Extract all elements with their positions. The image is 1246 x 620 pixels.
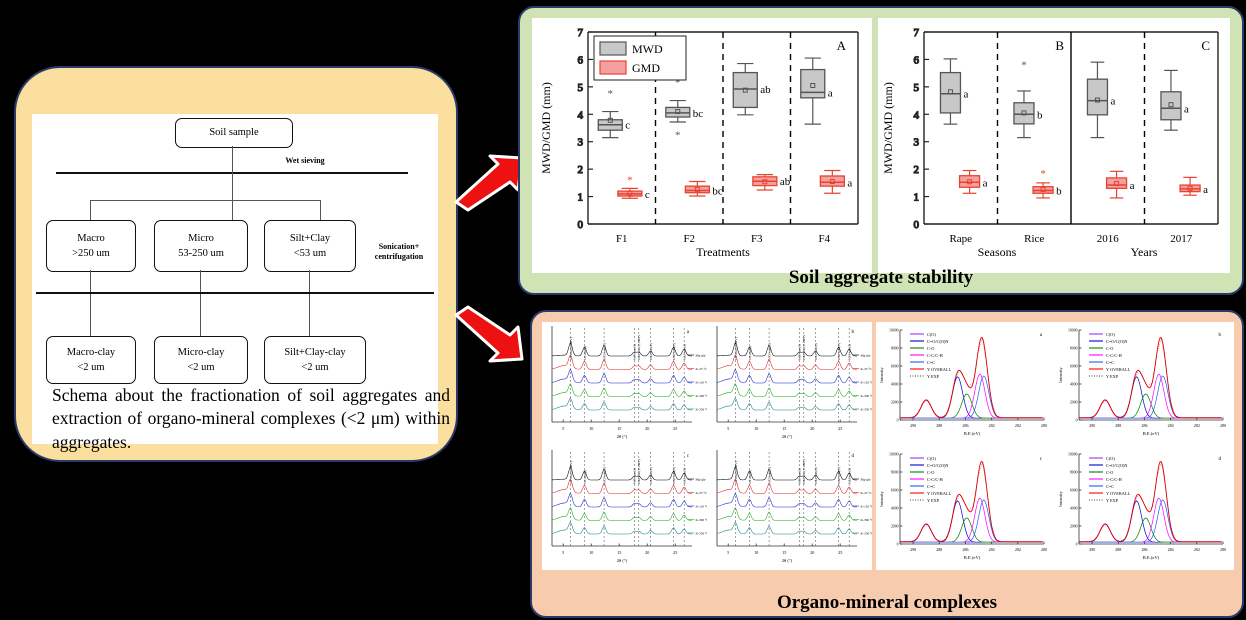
svg-text:C(O): C(O) [1106,456,1115,461]
svg-text:0: 0 [1076,543,1078,547]
clay-name: Macro-clay [67,345,115,360]
svg-text:6000: 6000 [891,365,899,369]
boxplot-BC-svg: 01234567 a*ba*baaaa RapeRice20162017 B C… [878,18,1230,273]
svg-text:4: 4 [914,109,920,121]
svg-text:1.0 nm (I): 1.0 nm (I) [583,469,587,484]
clay-size: <2 um [187,360,214,375]
svg-text:GMD: GMD [632,61,660,75]
svg-text:a: a [963,89,968,101]
svg-text:K-300 °C: K-300 °C [696,394,708,398]
svg-text:10000: 10000 [1068,329,1078,333]
connector-root-down [232,146,233,172]
svg-text:C=C: C=C [1106,484,1114,489]
svg-text:8000: 8000 [891,347,899,351]
svg-text:8000: 8000 [1070,347,1078,351]
connector-macro-down [90,270,91,336]
svg-text:K-550 °C: K-550 °C [861,408,873,412]
svg-text:4000: 4000 [1070,383,1078,387]
svg-text:C=C: C=C [927,484,935,489]
svg-text:10: 10 [589,550,593,555]
svg-text:4000: 4000 [891,383,899,387]
svg-text:280: 280 [1220,423,1226,428]
svg-text:2θ (°): 2θ (°) [617,434,628,439]
svg-text:b: b [1056,186,1062,198]
svg-text:2000: 2000 [1070,401,1078,405]
svg-text:C=O/C(O)N: C=O/C(O)N [1106,463,1128,468]
xrd-panel-grid: 5101520252θ (°)1.4 nm (V, HIV)1.0 nm (I)… [542,322,872,570]
svg-text:5: 5 [914,82,920,94]
svg-text:5: 5 [727,550,729,555]
svg-text:0.72 nm (C): 0.72 nm (C) [602,466,606,484]
svg-text:7: 7 [578,27,584,39]
svg-text:284: 284 [1168,547,1174,552]
svg-text:C=O/C(O)N: C=O/C(O)N [1106,339,1128,344]
fraction-size: <53 um [294,246,326,261]
fraction-size: 53-250 um [178,246,224,261]
svg-text:3: 3 [914,137,920,149]
svg-text:6: 6 [914,54,920,66]
fraction-size: >250 um [72,246,110,261]
svg-text:Years: Years [1131,245,1158,259]
svg-text:2016: 2016 [1097,233,1120,245]
svg-text:282: 282 [1015,423,1021,428]
sonication-label-line1: Sonication+ [379,242,420,251]
svg-text:Mg-gly: Mg-gly [696,478,706,482]
svg-text:a: a [983,177,988,189]
boxplot-A-svg: 01234567 *c**bcaba*cbcaba F1F2F3F4 MWD G… [532,18,872,273]
svg-text:K-550 °C: K-550 °C [861,532,873,536]
svg-text:8000: 8000 [1070,471,1078,475]
svg-text:a: a [847,177,852,189]
svg-text:2: 2 [914,164,920,176]
svg-text:290: 290 [910,423,916,428]
schema-panel: Soil sample Wet sieving Macro >250 um Mi… [14,66,458,462]
svg-text:c: c [645,189,650,201]
svg-text:Seasons: Seasons [978,245,1017,259]
xrd-panel-b: 5101520252θ (°)1.4 nm (V, HIV)1.0 nm (I)… [707,322,872,446]
svg-text:C-O: C-O [1106,470,1113,475]
svg-text:288: 288 [1115,547,1121,552]
svg-text:K-110 °C: K-110 °C [696,505,708,509]
svg-text:bc: bc [712,186,723,198]
svg-text:C=C: C=C [927,360,935,365]
svg-text:1.0 nm (I): 1.0 nm (I) [748,345,752,360]
svg-text:15: 15 [782,550,786,555]
svg-text:K-25 °C: K-25 °C [696,491,708,495]
fraction-box-micro: Micro 53-250 um [154,220,248,272]
wet-sieving-label: Wet sieving [260,156,350,166]
svg-text:B.E.(eV): B.E.(eV) [964,431,981,436]
svg-text:Rice: Rice [1024,233,1044,245]
xrd-panel-c: 5101520252θ (°)1.4 nm (V, HIV)1.0 nm (I)… [542,446,707,570]
clay-size: <2 um [301,360,328,375]
svg-text:C(O): C(O) [927,332,936,337]
connector-siltclay-down [309,270,310,336]
svg-text:C(O): C(O) [1106,332,1115,337]
svg-text:a: a [1184,103,1189,115]
svg-text:*: * [1040,168,1046,180]
svg-text:20: 20 [645,550,649,555]
svg-text:1.0 nm (I): 1.0 nm (I) [583,345,587,360]
svg-text:10: 10 [589,426,593,431]
svg-text:280: 280 [1220,547,1226,552]
svg-text:2: 2 [578,164,584,176]
connector-micro-down [200,270,201,336]
svg-text:F1: F1 [616,233,628,245]
svg-text:K-110 °C: K-110 °C [696,381,708,385]
svg-text:10000: 10000 [1068,453,1078,457]
svg-text:2017: 2017 [1170,233,1193,245]
clay-box-silt-clay-clay: Silt+Clay-clay <2 um [264,336,366,384]
svg-text:ab: ab [760,84,771,96]
svg-text:20: 20 [810,426,814,431]
svg-text:B.E.(eV): B.E.(eV) [1143,431,1160,436]
svg-text:0.72 nm (C): 0.72 nm (C) [767,342,771,360]
svg-text:a: a [1130,180,1135,192]
svg-text:MWD/GMD (mm): MWD/GMD (mm) [881,82,895,174]
svg-text:0: 0 [897,419,899,423]
complexes-section-title: Organo-mineral complexes [532,592,1242,614]
svg-text:2000: 2000 [891,401,899,405]
svg-text:C(O): C(O) [927,456,936,461]
svg-text:C-C/C-H: C-C/C-H [927,477,943,482]
svg-text:6: 6 [578,54,584,66]
svg-text:280: 280 [1041,423,1047,428]
svg-text:C-O: C-O [927,346,934,351]
svg-text:2000: 2000 [1070,525,1078,529]
svg-text:C-C/C-H: C-C/C-H [1106,477,1122,482]
flow-root-label: Soil sample [209,125,258,140]
chart-panel-A: 01234567 *c**bcaba*cbcaba F1F2F3F4 MWD G… [532,18,872,273]
svg-text:K-300 °C: K-300 °C [861,394,873,398]
svg-text:Rape: Rape [949,233,972,245]
svg-text:10000: 10000 [889,329,899,333]
sonication-label: Sonication+ centrifugation [362,242,436,261]
svg-text:K-550 °C: K-550 °C [696,408,708,412]
svg-text:Treatments: Treatments [696,245,750,259]
svg-text:Y EXP: Y EXP [927,374,940,379]
svg-text:15: 15 [782,426,786,431]
svg-text:MWD: MWD [632,42,663,56]
arrow-to-complexes [452,305,528,365]
svg-text:7: 7 [914,27,920,39]
flowchart-card: Soil sample Wet sieving Macro >250 um Mi… [32,114,438,444]
svg-text:10: 10 [754,550,758,555]
svg-text:1: 1 [914,192,920,204]
svg-text:5: 5 [727,426,729,431]
svg-text:284: 284 [989,423,995,428]
svg-text:C=O/C(O)N: C=O/C(O)N [927,339,949,344]
xps-panel-d: 2902882862842822800200040006000800010000… [1055,446,1234,570]
svg-text:282: 282 [1194,423,1200,428]
svg-text:a: a [1110,96,1115,108]
flow-root-box: Soil sample [175,118,293,148]
svg-text:C-O: C-O [1106,346,1113,351]
sonication-label-line2: centrifugation [375,252,423,261]
fraction-name: Silt+Clay [290,231,330,246]
svg-text:Mg-gly: Mg-gly [696,354,706,358]
svg-text:c: c [625,120,630,132]
svg-text:K-550 °C: K-550 °C [696,532,708,536]
svg-text:F3: F3 [751,233,763,245]
svg-text:0.72 nm (C): 0.72 nm (C) [767,466,771,484]
svg-text:Y EXP: Y EXP [927,498,940,503]
svg-text:K-110 °C: K-110 °C [861,381,873,385]
svg-text:Y EXP: Y EXP [1106,374,1119,379]
svg-text:4: 4 [578,109,584,121]
svg-text:2000: 2000 [891,525,899,529]
fraction-name: Macro [77,231,104,246]
svg-text:Y OVERALL: Y OVERALL [927,491,951,496]
branch-mid-drop [232,200,233,220]
svg-text:288: 288 [936,423,942,428]
svg-text:B.E.(eV): B.E.(eV) [1143,555,1160,560]
branch-right-drop [320,200,321,220]
fraction-box-silt-clay: Silt+Clay <53 um [264,220,356,272]
svg-text:25: 25 [673,426,677,431]
svg-text:Y EXP: Y EXP [1106,498,1119,503]
svg-text:10000: 10000 [889,453,899,457]
svg-text:290: 290 [1089,547,1095,552]
svg-text:280: 280 [1041,547,1047,552]
svg-text:0: 0 [897,543,899,547]
svg-text:5: 5 [562,550,564,555]
svg-text:Y OVERALL: Y OVERALL [1106,367,1130,372]
svg-text:2θ (°): 2θ (°) [782,558,793,563]
clay-box-macro-clay: Macro-clay <2 um [46,336,136,384]
svg-text:Intensity: Intensity [1058,491,1063,507]
svg-text:B.E.(eV): B.E.(eV) [964,555,981,560]
svg-text:MWD/GMD (mm): MWD/GMD (mm) [539,82,553,174]
svg-text:K-25 °C: K-25 °C [696,367,708,371]
fraction-box-macro: Macro >250 um [46,220,136,272]
clay-box-micro-clay: Micro-clay <2 um [154,336,248,384]
chart-panel-BC: 01234567 a*ba*baaaa RapeRice20162017 B C… [878,18,1230,273]
svg-text:K-25 °C: K-25 °C [861,367,873,371]
svg-text:B: B [1055,38,1064,53]
svg-text:C: C [1201,38,1210,53]
svg-text:288: 288 [1115,423,1121,428]
soil-aggregate-stability-panel: 01234567 *c**bcaba*cbcaba F1F2F3F4 MWD G… [518,6,1244,295]
svg-text:*: * [608,88,614,100]
svg-text:3: 3 [578,137,584,149]
svg-text:C-C/C-H: C-C/C-H [1106,353,1122,358]
svg-text:C-O: C-O [927,470,934,475]
svg-text:Y OVERALL: Y OVERALL [1106,491,1130,496]
svg-text:6000: 6000 [1070,365,1078,369]
svg-text:284: 284 [989,547,995,552]
svg-text:286: 286 [962,423,968,428]
svg-text:0.72 nm (C): 0.72 nm (C) [602,342,606,360]
svg-text:5: 5 [562,426,564,431]
clay-name: Micro-clay [178,345,225,360]
connector-below-rule [232,172,233,200]
legend-A: MWD GMD [594,36,686,80]
svg-text:a: a [828,87,833,99]
xps-panel-grid: 2902882862842822800200040006000800010000… [876,322,1234,570]
clay-size: <2 um [77,360,104,375]
svg-text:F4: F4 [818,233,830,245]
xrd-panel-d: 5101520252θ (°)1.4 nm (V, HIV)1.0 nm (I)… [707,446,872,570]
svg-text:*: * [675,129,681,141]
svg-text:25: 25 [838,550,842,555]
svg-text:a: a [1203,184,1208,196]
xps-panel-c: 2902882862842822800200040006000800010000… [876,446,1055,570]
svg-text:286: 286 [962,547,968,552]
svg-text:F2: F2 [683,233,695,245]
stability-section-title: Soil aggregate stability [520,267,1242,289]
svg-text:0: 0 [914,219,920,231]
svg-text:2θ (°): 2θ (°) [782,434,793,439]
xps-panel-a: 2902882862842822800200040006000800010000… [876,322,1055,446]
svg-text:15: 15 [617,550,621,555]
svg-text:K-300 °C: K-300 °C [696,518,708,522]
svg-text:4000: 4000 [891,507,899,511]
svg-text:282: 282 [1194,547,1200,552]
svg-text:1.0 nm (I): 1.0 nm (I) [748,469,752,484]
svg-text:K-110 °C: K-110 °C [861,505,873,509]
xrd-panel-a: 5101520252θ (°)1.4 nm (V, HIV)1.0 nm (I)… [542,322,707,446]
svg-text:0: 0 [578,219,584,231]
svg-text:A: A [837,38,847,53]
svg-text:K-300 °C: K-300 °C [861,518,873,522]
svg-text:284: 284 [1168,423,1174,428]
svg-text:ab: ab [780,176,791,188]
svg-text:282: 282 [1015,547,1021,552]
svg-text:0: 0 [1076,419,1078,423]
branch-rule-top [90,200,320,201]
svg-text:2θ (°): 2θ (°) [617,558,628,563]
svg-text:5: 5 [578,82,584,94]
svg-text:286: 286 [1141,547,1147,552]
svg-text:20: 20 [645,426,649,431]
svg-text:Intensity: Intensity [1058,367,1063,383]
fraction-name: Micro [188,231,214,246]
svg-text:Mg-gly: Mg-gly [861,354,871,358]
clay-name: Silt+Clay-clay [284,345,345,360]
svg-text:*: * [627,175,633,187]
svg-text:Mg-gly: Mg-gly [861,478,871,482]
svg-text:C-C/C-H: C-C/C-H [927,353,943,358]
svg-text:4000: 4000 [1070,507,1078,511]
svg-text:K-25 °C: K-25 °C [861,491,873,495]
svg-text:Y OVERALL: Y OVERALL [927,367,951,372]
svg-text:20: 20 [810,550,814,555]
svg-text:10: 10 [754,426,758,431]
svg-text:290: 290 [910,547,916,552]
svg-text:15: 15 [617,426,621,431]
svg-text:6000: 6000 [1070,489,1078,493]
svg-text:288: 288 [936,547,942,552]
svg-text:286: 286 [1141,423,1147,428]
svg-text:C=O/C(O)N: C=O/C(O)N [927,463,949,468]
organo-mineral-complexes-panel: 5101520252θ (°)1.4 nm (V, HIV)1.0 nm (I)… [530,310,1244,618]
svg-text:8000: 8000 [891,471,899,475]
svg-text:bc: bc [693,108,704,120]
svg-text:25: 25 [673,550,677,555]
schema-caption: Schema about the fractionation of soil a… [48,384,454,454]
sonication-rule [36,292,434,294]
svg-text:b: b [1037,109,1043,121]
svg-text:290: 290 [1089,423,1095,428]
arrow-to-stability [452,152,528,212]
svg-text:Intensity: Intensity [879,367,884,383]
svg-text:25: 25 [838,426,842,431]
xps-panel-b: 2902882862842822800200040006000800010000… [1055,322,1234,446]
svg-text:6000: 6000 [891,489,899,493]
svg-text:1: 1 [578,192,584,204]
svg-text:C=C: C=C [1106,360,1114,365]
svg-text:*: * [1021,59,1026,71]
svg-text:Intensity: Intensity [879,491,884,507]
branch-left-drop [90,200,91,220]
